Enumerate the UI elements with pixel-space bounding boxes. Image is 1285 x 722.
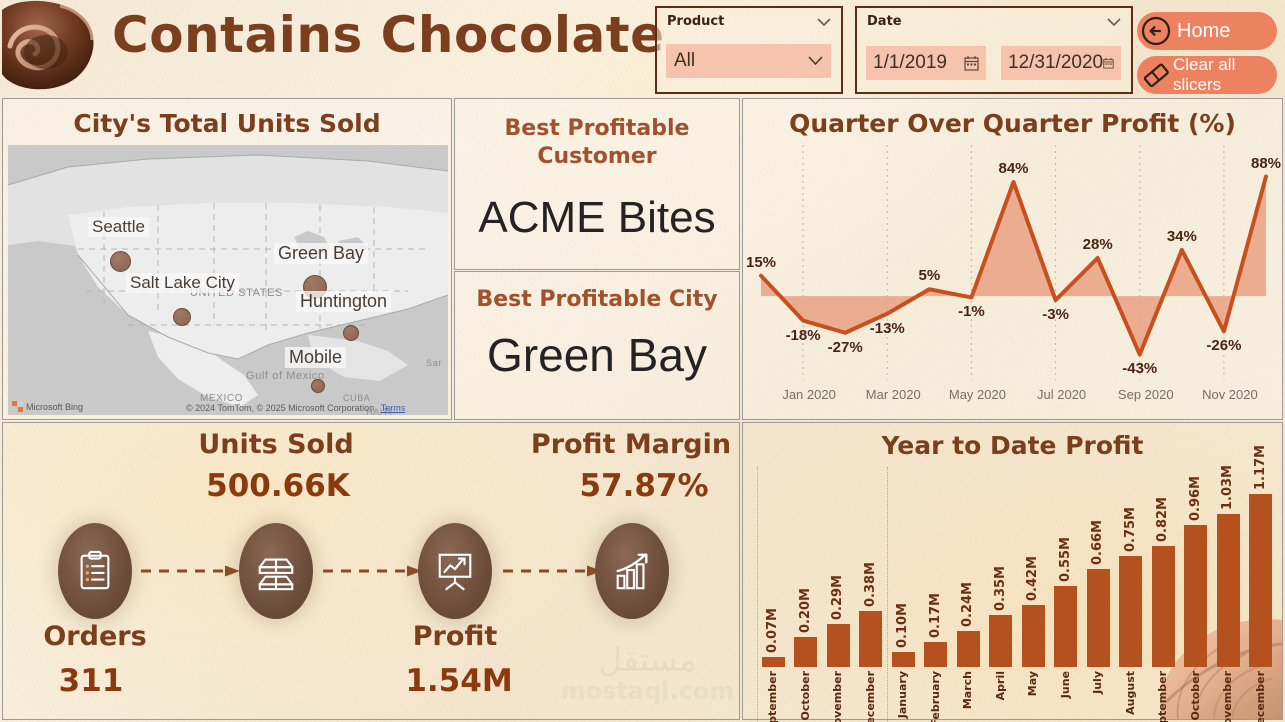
qoq-x-tick: Jul 2020 <box>1037 387 1086 402</box>
qoq-data-label: 5% <box>918 267 940 284</box>
page-title: Contains Chocolate <box>112 6 665 64</box>
units-sold-label: Units Sold <box>198 429 353 460</box>
ytd-bar-value-label: 0.17M <box>928 593 943 638</box>
ytd-bar[interactable] <box>989 615 1012 667</box>
map-label-mobile: Mobile <box>285 347 346 368</box>
map-bubble-salt-lake-city[interactable] <box>173 308 191 326</box>
qoq-data-label: 15% <box>746 254 776 271</box>
ytd-category-label: September <box>766 671 779 722</box>
map-label-huntington: Huntington <box>296 291 391 312</box>
date-slicer[interactable]: Date 1/1/2019 12/31/2020 <box>855 6 1133 94</box>
back-arrow-circle-icon <box>1139 14 1173 48</box>
ytd-group-divider <box>887 467 888 722</box>
ytd-plot-area[interactable]: 0.07MSeptember0.20MOctober0.29MNovember0… <box>757 467 1277 667</box>
map-terms-link[interactable]: Terms <box>381 403 406 413</box>
ytd-bar[interactable] <box>1119 556 1142 667</box>
growth-bar-chart-icon <box>611 550 653 592</box>
qoq-x-tick: Jan 2020 <box>782 387 836 402</box>
qoq-data-label: 28% <box>1083 236 1113 253</box>
ytd-bar-value-label: 1.17M <box>1253 445 1268 490</box>
product-selected-value: All <box>674 50 695 72</box>
ytd-bar[interactable] <box>794 637 817 667</box>
year-to-date-profit-chart-panel[interactable]: Year to Date Profit 0.07MSeptember0.20MO… <box>742 422 1283 720</box>
ytd-category-label: July <box>1091 671 1104 694</box>
ytd-bar-value-label: 0.29M <box>830 575 845 620</box>
ytd-bar[interactable] <box>892 652 915 667</box>
map-label-salt-lake-city: Salt Lake City <box>126 273 239 293</box>
date-slicer-label: Date <box>867 14 902 29</box>
product-slicer-label: Product <box>667 14 724 29</box>
map-attribution-text: © 2024 TomTom, © 2025 Microsoft Corporat… <box>186 403 405 413</box>
dashed-arrow-right-icon <box>323 565 423 577</box>
dashed-arrow-right-icon <box>141 565 241 577</box>
city-units-sold-map-panel[interactable]: City's Total Units Sold UNITED STATES <box>2 98 452 420</box>
calendar-icon[interactable] <box>1103 55 1114 71</box>
ytd-chart-title: Year to Date Profit <box>743 431 1282 460</box>
ytd-category-label: October <box>1189 671 1202 720</box>
best-city-title: Best Profitable City <box>461 286 733 314</box>
ytd-category-label: February <box>929 671 942 722</box>
map-bubble-huntington[interactable] <box>343 325 359 341</box>
ytd-category-label: November <box>831 671 844 722</box>
calendar-icon[interactable] <box>964 55 979 71</box>
ytd-bar-value-label: 0.38M <box>863 562 878 607</box>
qoq-data-label: -1% <box>958 303 985 320</box>
ytd-bar[interactable] <box>1184 525 1207 667</box>
dashboard-header: Contains Chocolate Product All Date 1/1/… <box>0 0 1285 96</box>
qoq-x-axis: Jan 2020Mar 2020May 2020Jul 2020Sep 2020… <box>749 387 1278 407</box>
product-dropdown[interactable]: All <box>666 44 831 78</box>
chevron-down-icon[interactable] <box>808 56 823 66</box>
best-profitable-city-card[interactable]: Best Profitable City Green Bay <box>454 271 740 420</box>
ytd-category-label: June <box>1059 671 1072 698</box>
chocolate-swirl-logo <box>0 0 112 96</box>
bing-provider-label: Microsoft Bing <box>26 402 83 412</box>
ytd-bar[interactable] <box>762 657 785 667</box>
ytd-bar[interactable] <box>1152 546 1175 667</box>
ytd-category-label: March <box>961 671 974 709</box>
ytd-bar[interactable] <box>1054 586 1077 667</box>
home-button[interactable]: Home <box>1137 12 1277 50</box>
ytd-bar-value-label: 0.55M <box>1058 537 1073 582</box>
map-label-seattle: Seattle <box>88 217 149 237</box>
ytd-bar[interactable] <box>859 611 882 667</box>
bing-attribution: Microsoft Bing <box>12 401 83 412</box>
clipboard-list-icon <box>74 550 116 592</box>
ytd-bar[interactable] <box>957 631 980 667</box>
presentation-chart-icon <box>434 550 476 592</box>
ytd-category-label: December <box>864 671 877 722</box>
chevron-down-icon[interactable] <box>1107 18 1121 27</box>
ytd-bar-value-label: 0.20M <box>798 588 813 633</box>
home-button-label: Home <box>1177 20 1230 43</box>
eraser-icon <box>1139 58 1173 92</box>
profit-margin-label: Profit Margin <box>531 429 731 460</box>
ytd-bar-value-label: 0.66M <box>1090 520 1105 565</box>
best-city-value: Green Bay <box>455 328 739 382</box>
profit-value: 1.54M <box>405 663 512 699</box>
kpi-flow-panel[interactable]: Units Sold 500.66K Profit Margin 57.87% … <box>2 422 740 720</box>
qoq-plot-area[interactable]: 15%-18%-27%-13%5%-1%84%-3%28%-43%34%-26%… <box>749 145 1278 380</box>
stacked-boxes-icon <box>255 550 297 592</box>
qoq-data-label: -3% <box>1042 306 1069 323</box>
qoq-data-label: -43% <box>1122 360 1157 377</box>
bing-map-canvas[interactable]: UNITED STATES Gulf of Mexico MEXICO CUBA… <box>8 145 448 415</box>
geo-label-sar: Sar <box>426 358 442 368</box>
units-sold-icon-badge[interactable] <box>239 523 313 619</box>
ytd-bar-value-label: 0.42M <box>1025 556 1040 601</box>
map-bubble-seattle[interactable] <box>110 251 131 272</box>
map-copyright: © 2024 TomTom, © 2025 Microsoft Corporat… <box>186 403 374 413</box>
qoq-x-tick: May 2020 <box>949 387 1006 402</box>
ytd-bar-value-label: 0.10M <box>895 603 910 648</box>
qoq-data-label: 34% <box>1167 228 1197 245</box>
best-customer-title: Best Profitable Customer <box>461 115 733 170</box>
ytd-category-label: December <box>1254 671 1267 722</box>
ytd-bar[interactable] <box>924 642 947 667</box>
ytd-bar[interactable] <box>1249 494 1272 667</box>
qoq-data-label: 84% <box>998 160 1028 177</box>
ytd-bar[interactable] <box>1022 605 1045 667</box>
qoq-data-label: -26% <box>1206 337 1241 354</box>
map-title: City's Total Units Sold <box>3 109 451 138</box>
best-customer-value: ACME Bites <box>455 193 739 243</box>
ytd-bar-value-label: 0.35M <box>993 566 1008 611</box>
ytd-bar[interactable] <box>827 624 850 667</box>
quarter-over-quarter-profit-chart-panel[interactable]: Quarter Over Quarter Profit (%) 15%-18%-… <box>742 98 1283 420</box>
bing-logo-icon <box>12 401 23 412</box>
date-end-input[interactable]: 12/31/2020 <box>1001 46 1121 80</box>
ytd-category-label: April <box>994 671 1007 700</box>
orders-label: Orders <box>43 621 146 652</box>
orders-icon-badge[interactable] <box>58 523 132 619</box>
qoq-data-label: -18% <box>786 327 821 344</box>
ytd-group-divider <box>757 467 758 722</box>
units-sold-value: 500.66K <box>206 468 350 504</box>
qoq-x-tick: Mar 2020 <box>866 387 921 402</box>
clear-all-slicers-label: Clear all slicers <box>1173 55 1277 95</box>
dashed-arrow-right-icon <box>503 565 603 577</box>
ytd-bar-value-label: 0.24M <box>960 582 975 627</box>
ytd-bar-value-label: 0.07M <box>765 608 780 653</box>
ytd-category-label: September <box>1156 671 1169 722</box>
ytd-category-label: November <box>1221 671 1234 722</box>
map-bubble-mobile[interactable] <box>311 379 325 393</box>
map-label-green-bay: Green Bay <box>274 243 368 264</box>
date-start-value: 1/1/2019 <box>873 52 947 74</box>
best-profitable-customer-card[interactable]: Best Profitable Customer ACME Bites <box>454 98 740 270</box>
qoq-x-tick: Nov 2020 <box>1202 387 1258 402</box>
profit-margin-value: 57.87% <box>579 468 708 504</box>
ytd-category-label: August <box>1124 671 1137 715</box>
ytd-category-label: October <box>799 671 812 720</box>
ytd-bar-value-label: 0.75M <box>1123 507 1138 552</box>
profit-label: Profit <box>413 621 498 652</box>
ytd-bar-value-label: 0.82M <box>1155 497 1170 542</box>
ytd-bar-value-label: 0.96M <box>1188 476 1203 521</box>
qoq-data-label: -13% <box>870 320 905 337</box>
page-title-text: Contains Chocolate <box>112 6 665 64</box>
product-slicer[interactable]: Product All <box>655 6 843 94</box>
qoq-x-tick: Sep 2020 <box>1118 387 1174 402</box>
ytd-bar[interactable] <box>1087 569 1110 667</box>
ytd-category-label: May <box>1026 671 1039 696</box>
geo-label-cuba: CUBA <box>343 393 370 403</box>
ytd-bar[interactable] <box>1217 514 1240 667</box>
qoq-chart-title: Quarter Over Quarter Profit (%) <box>743 109 1282 138</box>
chevron-down-icon[interactable] <box>817 18 831 27</box>
date-start-input[interactable]: 1/1/2019 <box>866 46 986 80</box>
profit-icon-badge[interactable] <box>418 523 492 619</box>
qoq-data-label: -27% <box>828 339 863 356</box>
qoq-data-label: 88% <box>1251 155 1281 172</box>
date-end-value: 12/31/2020 <box>1008 52 1103 74</box>
clear-all-slicers-button[interactable]: Clear all slicers <box>1137 56 1277 94</box>
ytd-category-label: January <box>896 671 909 718</box>
profit-margin-icon-badge[interactable] <box>595 523 669 619</box>
orders-value: 311 <box>59 663 124 699</box>
ytd-bar-value-label: 1.03M <box>1220 465 1235 510</box>
